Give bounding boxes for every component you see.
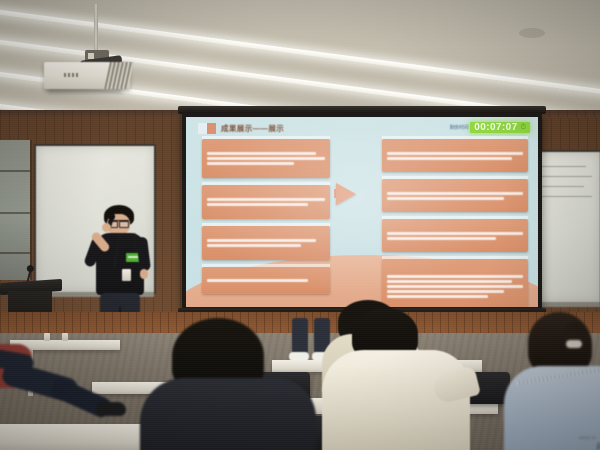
partition-mullion [0,252,30,254]
projector-icon [44,62,130,89]
audience-front-left [150,318,300,450]
partition-mullion [0,212,30,214]
box-cap [382,176,528,179]
seminar-room-photo: 成果展示——展示 剩余时间 00:07:07 ⏱ [0,0,600,450]
box-cap [202,136,330,139]
flag-icon [198,123,216,134]
box-cap [382,216,528,219]
cup [62,333,68,341]
hourglass-icon: ⏱ [521,124,526,132]
hair-tie [566,340,582,348]
slide-left-column [202,139,330,294]
timer-prefix-label: 剩余时间 [449,124,468,131]
slide-box [382,139,528,172]
box-cap [202,223,330,226]
presentation-slide: 成果展示——展示 剩余时间 00:07:07 ⏱ [186,117,538,307]
slide-box [382,179,528,212]
right-arrow-icon [336,183,356,205]
countdown-timer: 剩余时间 00:07:07 ⏱ [449,122,530,133]
box-cap [202,264,330,267]
timer-value: 00:07:07 [474,122,517,133]
slide-box [202,267,330,294]
audience-torso: MADE IN Rouge [504,366,600,450]
slide-title: 成果展示——展示 [221,123,284,134]
glass-partition [0,140,32,280]
jacket-subtext: MADE IN [579,436,596,440]
ceiling-vent [519,28,545,38]
audience-right-denim: MADE IN Rouge [520,318,600,450]
slide-box [382,219,528,252]
slide-box [202,185,330,219]
cup [44,333,50,341]
projector-vent-grille [104,62,134,89]
audience-shoe [96,402,126,416]
box-cap [202,182,330,185]
presenter-left-hand [102,223,111,232]
slide-box [202,139,330,178]
projector-brand-mark [64,73,80,77]
slide-box [202,226,330,260]
box-cap [382,136,528,139]
lanyard-strap [113,233,121,269]
jacket-text: Rouge [595,439,600,450]
badge [122,269,131,281]
slide-right-column [382,139,528,307]
audience-far-left [0,348,126,450]
slide-title-row: 成果展示——展示 [198,123,284,134]
projector-mount-pole [94,4,98,52]
audience-mid-front [338,308,448,450]
audience-torso [140,378,316,450]
slide-columns [186,139,538,291]
partition-mullion [0,170,30,172]
presenter-right-hand [140,269,148,279]
box-cap [382,256,528,259]
timer-highlight: 00:07:07 ⏱ [470,122,530,133]
